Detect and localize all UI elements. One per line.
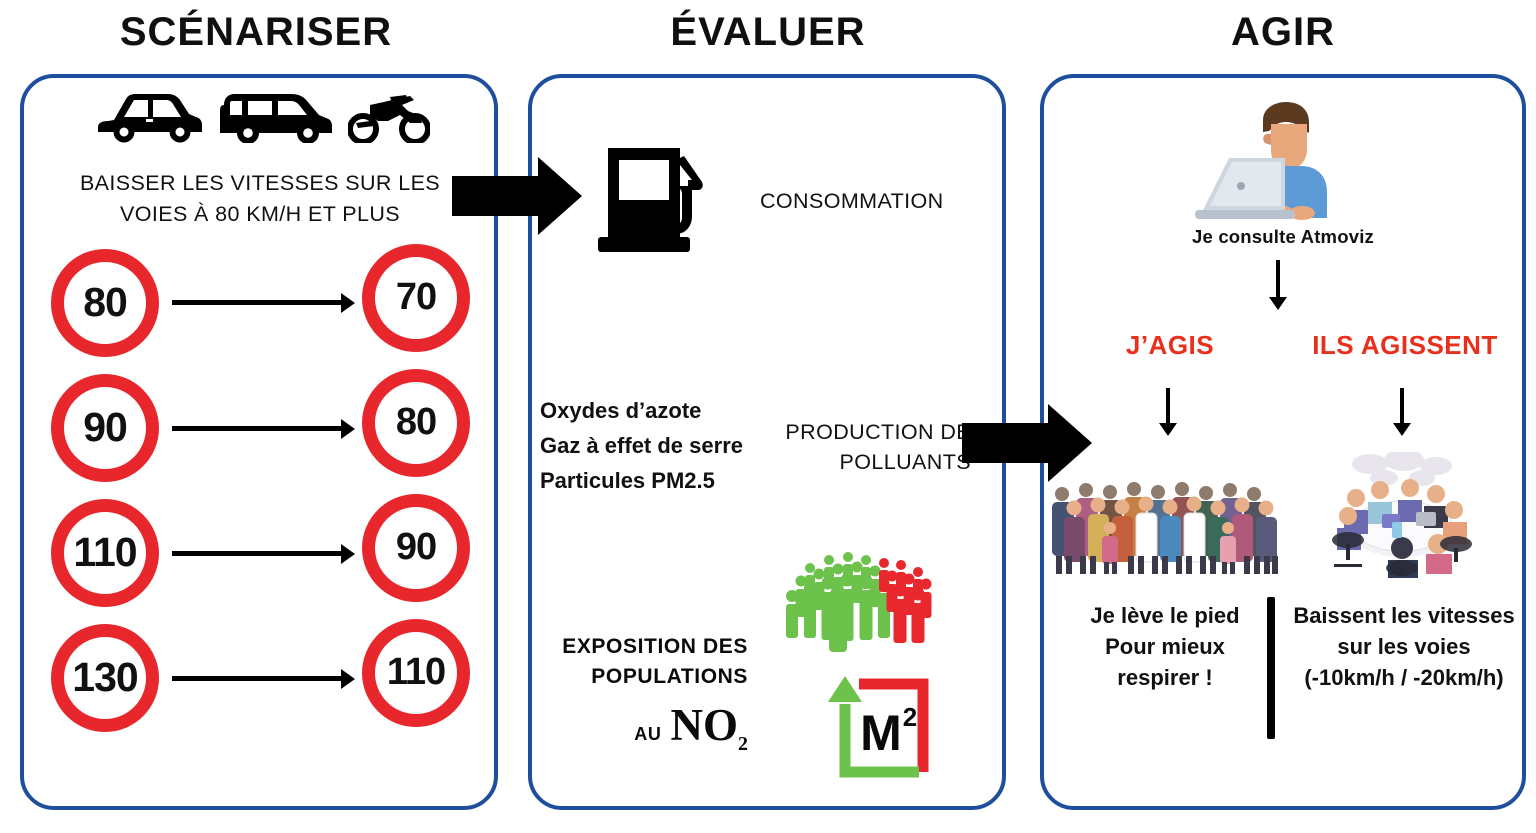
flow-arrow-evaluer-to-agir <box>962 404 1092 482</box>
pollutants-label-line-2: POLLUANTS <box>766 447 971 477</box>
transition-arrow-2 <box>172 551 342 556</box>
speed-value: 70 <box>396 276 436 319</box>
caption-ils-agissent: Baissent les vitesses sur les voies (-10… <box>1284 600 1524 694</box>
headline-line-1: BAISSER LES VITESSES SUR LES <box>40 168 480 199</box>
page-title-agir: AGIR <box>1030 10 1536 55</box>
flow-arrow-down-jagis <box>1166 388 1170 424</box>
speed-value: 90 <box>83 404 127 451</box>
area-exposure-icon: M 2 <box>815 668 935 789</box>
van-icon <box>218 85 334 148</box>
pollutant-item: Gaz à effet de serre <box>540 429 743 464</box>
pollutants-list: Oxydes d’azote Gaz à effet de serre Part… <box>540 394 743 498</box>
exposure-line-1: EXPOSITION DES <box>520 632 748 662</box>
caption-jagis: Je lève le pied Pour mieux respirer ! <box>1054 600 1276 694</box>
svg-text:2: 2 <box>903 702 917 732</box>
speed-sign-to-0: 70 <box>362 244 470 352</box>
exposure-prefix: AU <box>634 721 661 747</box>
page-title-scenariser: SCÉNARISER <box>0 10 512 55</box>
caption-divider <box>1267 597 1275 739</box>
branch-label-jagis: J’AGIS <box>1060 330 1280 361</box>
exposure-pollutant: NO2 <box>671 693 749 759</box>
flow-arrow-down-main <box>1276 260 1280 298</box>
speed-value: 80 <box>396 401 436 444</box>
vehicle-icon-row <box>96 85 430 148</box>
crowd-icon <box>1046 470 1284 585</box>
caption-line: sur les voies <box>1284 631 1524 662</box>
fuel-pump-icon <box>592 138 712 259</box>
page-title-evaluer: ÉVALUER <box>515 10 1021 55</box>
speed-sign-to-3: 110 <box>362 619 470 727</box>
headline-line-2: VOIES À 80 KM/H ET PLUS <box>40 199 480 230</box>
svg-text:M: M <box>860 705 902 761</box>
speed-sign-from-2: 110 <box>51 499 159 607</box>
scenariser-headline: BAISSER LES VITESSES SUR LES VOIES À 80 … <box>40 168 480 229</box>
pollutants-label-line-1: PRODUCTION DE <box>766 417 971 447</box>
motorcycle-icon <box>348 93 430 148</box>
pollutant-item: Oxydes d’azote <box>540 394 743 429</box>
transition-arrow-3 <box>172 676 342 681</box>
flow-arrow-down-ils-agissent <box>1400 388 1404 424</box>
speed-sign-to-1: 80 <box>362 369 470 477</box>
pollutants-production-label: PRODUCTION DE POLLUANTS <box>766 417 971 477</box>
exposure-label: EXPOSITION DES POPULATIONS AU NO2 <box>520 632 748 759</box>
car-icon <box>96 87 204 148</box>
exposure-pollutant-subscript: 2 <box>738 733 748 755</box>
speed-value: 110 <box>387 651 445 694</box>
flow-arrow-scenariser-to-evaluer <box>452 157 582 235</box>
transition-arrow-0 <box>172 300 342 305</box>
caption-line: Je lève le pied <box>1054 600 1276 631</box>
meeting-icon <box>1318 452 1486 585</box>
speed-sign-from-0: 80 <box>51 249 159 357</box>
caption-line: (-10km/h / -20km/h) <box>1284 662 1524 693</box>
speed-value: 110 <box>73 529 136 576</box>
caption-line: Pour mieux <box>1054 631 1276 662</box>
speed-sign-from-3: 130 <box>51 624 159 732</box>
atmoviz-caption: Je consulte Atmoviz <box>1040 226 1526 248</box>
caption-line: respirer ! <box>1054 662 1276 693</box>
speed-value: 90 <box>396 526 436 569</box>
population-exposure-icon <box>778 550 934 663</box>
exposure-line-2: POPULATIONS <box>520 662 748 692</box>
speed-value: 80 <box>83 279 127 326</box>
speed-sign-from-1: 90 <box>51 374 159 482</box>
person-laptop-icon <box>1185 100 1363 235</box>
branch-label-ils-agissent: ILS AGISSENT <box>1290 330 1520 361</box>
speed-value: 130 <box>72 654 137 701</box>
transition-arrow-1 <box>172 426 342 431</box>
speed-sign-to-2: 90 <box>362 494 470 602</box>
consumption-label: CONSOMMATION <box>760 186 944 216</box>
caption-line: Baissent les vitesses <box>1284 600 1524 631</box>
pollutant-item: Particules PM2.5 <box>540 464 743 499</box>
